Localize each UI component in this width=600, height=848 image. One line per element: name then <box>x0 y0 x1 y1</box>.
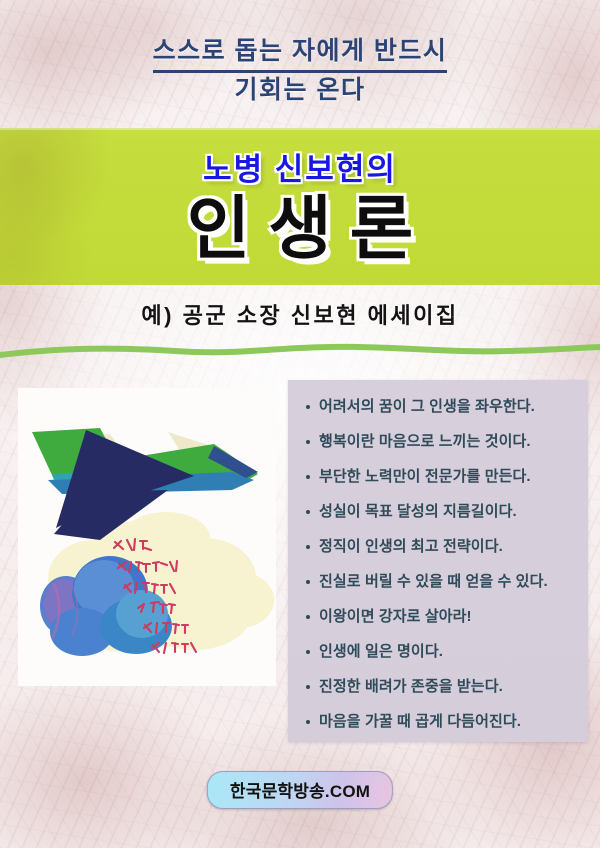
list-item: 이왕이면 강자로 살아라! <box>304 607 588 626</box>
list-item: 마음을 가꿀 때 곱게 다듬어진다. <box>304 712 588 731</box>
band-author-line: 노병 신보현의 <box>0 144 600 189</box>
headline-line-1: 스스로 돕는 자에게 반드시 <box>153 34 448 73</box>
list-item: 어려서의 꿈이 그 인생을 좌우한다. <box>304 397 588 416</box>
cover-headline: 스스로 돕는 자에게 반드시 기회는 온다 <box>0 34 600 108</box>
green-wave-divider <box>0 336 600 360</box>
page-title: 인생론 <box>0 188 600 270</box>
title-band: 노병 신보현의 인생론 <box>0 128 600 285</box>
list-item: 정직이 인생의 최고 전략이다. <box>304 537 588 556</box>
list-item: 성실이 목표 달성의 지름길이다. <box>304 502 588 521</box>
list-item: 부단한 노력만이 전문가를 만든다. <box>304 467 588 486</box>
headline-line-2: 기회는 온다 <box>0 73 600 108</box>
quotes-list: 어려서의 꿈이 그 인생을 좌우한다. 행복이란 마음으로 느끼는 것이다. 부… <box>288 380 588 731</box>
list-item: 진정한 배려가 존중을 받는다. <box>304 677 588 696</box>
list-item: 인생에 일은 명이다. <box>304 642 588 661</box>
band-top-edge <box>0 128 600 130</box>
list-item: 진실로 버릴 수 있을 때 얻을 수 있다. <box>304 572 588 591</box>
airplane-illustration <box>18 388 276 686</box>
book-cover: 스스로 돕는 자에게 반드시 기회는 온다 노병 신보현의 인생론 예) 공군 … <box>0 0 600 848</box>
publisher-badge[interactable]: 한국문학방송.COM <box>207 771 393 809</box>
list-item: 행복이란 마음으로 느끼는 것이다. <box>304 432 588 451</box>
quotes-panel: 어려서의 꿈이 그 인생을 좌우한다. 행복이란 마음으로 느끼는 것이다. 부… <box>288 380 588 742</box>
cover-subtitle: 예) 공군 소장 신보현 에세이집 <box>0 298 600 330</box>
